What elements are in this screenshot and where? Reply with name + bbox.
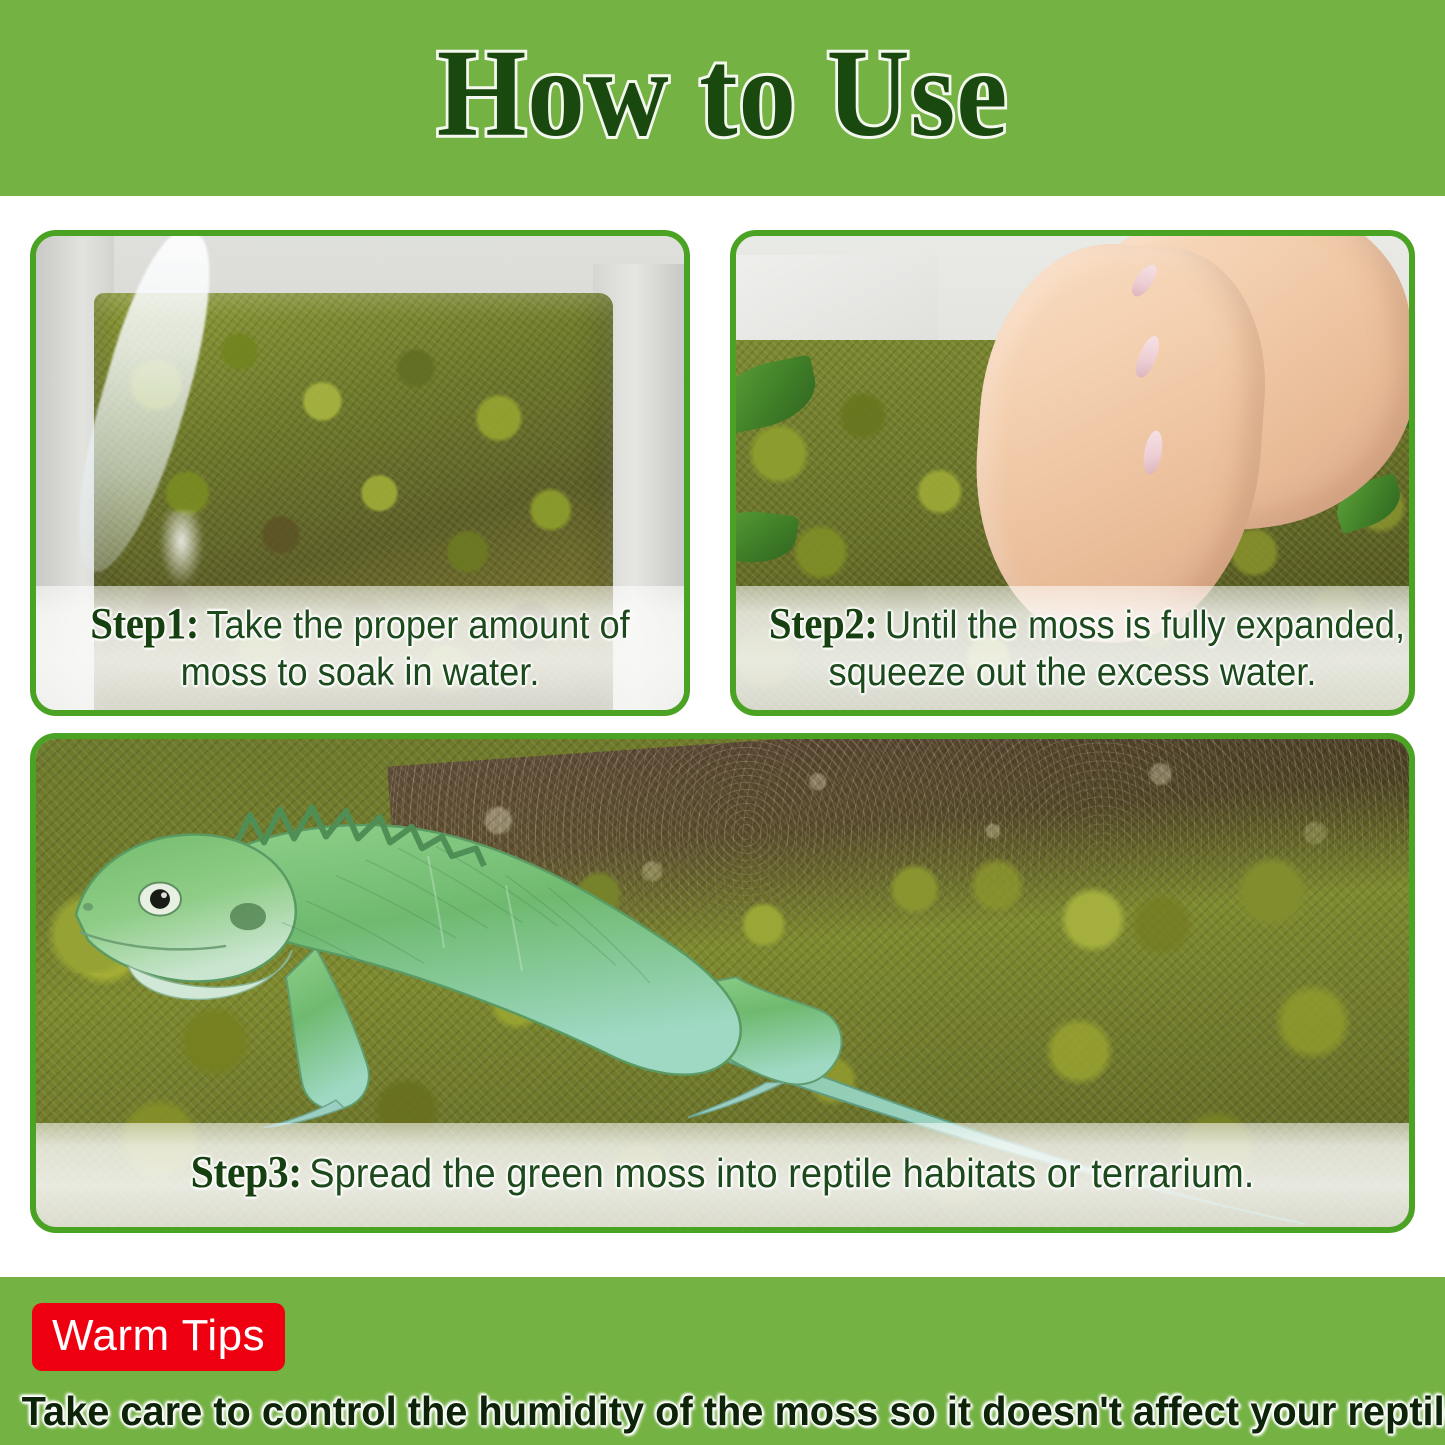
step-3-label: Step3: <box>191 1147 302 1197</box>
step-2-text-1: Until the moss is fully expanded, <box>885 604 1405 647</box>
step-3-panel: Step3:Spread the green moss into reptile… <box>30 733 1415 1233</box>
step-1-caption-line-1: Step1:Take the proper amount of <box>68 600 652 649</box>
step-3-caption: Step3:Spread the green moss into reptile… <box>36 1123 1409 1227</box>
step-2-caption: Step2:Until the moss is fully expanded, … <box>736 586 1409 710</box>
lizard-nostril <box>83 903 93 911</box>
fingernail <box>1141 430 1165 476</box>
lizard-head <box>76 835 296 982</box>
step-1-caption-line-2: moss to soak in water. <box>68 649 652 696</box>
step-3-text-1: Spread the green moss into reptile habit… <box>309 1150 1254 1196</box>
step-1-label: Step1: <box>90 599 199 648</box>
step-2-label: Step2: <box>769 599 878 648</box>
fingernail <box>1132 333 1164 380</box>
lizard-front-leg <box>286 948 369 1110</box>
lizard-ear <box>230 903 266 930</box>
step-2-caption-line-2: squeeze out the excess water. <box>769 649 1376 696</box>
warm-tips-banner: Warm Tips Take care to control the humid… <box>0 1277 1445 1445</box>
step-2-panel: Step2:Until the moss is fully expanded, … <box>730 230 1415 716</box>
lizard-hind-foot <box>688 1083 784 1118</box>
step-2-caption-line-1: Step2:Until the moss is fully expanded, <box>769 600 1376 649</box>
step-1-panel: Step1:Take the proper amount of moss to … <box>30 230 690 716</box>
step-1-caption: Step1:Take the proper amount of moss to … <box>36 586 684 710</box>
steps-grid: Step1:Take the proper amount of moss to … <box>0 196 1445 1277</box>
step-3-caption-line-1: Step3:Spread the green moss into reptile… <box>93 1149 1351 1197</box>
water-splash <box>159 511 204 587</box>
page-title: How to Use <box>437 32 1008 157</box>
warm-tips-text: Take care to control the humidity of the… <box>22 1387 1424 1435</box>
step-1-text-1: Take the proper amount of <box>206 604 629 647</box>
header-banner: How to Use <box>0 0 1445 196</box>
warm-tips-badge: Warm Tips <box>32 1303 285 1371</box>
lizard-eye-highlight <box>161 892 167 898</box>
fingernail <box>1128 261 1161 299</box>
lizard-pupil <box>150 889 170 909</box>
